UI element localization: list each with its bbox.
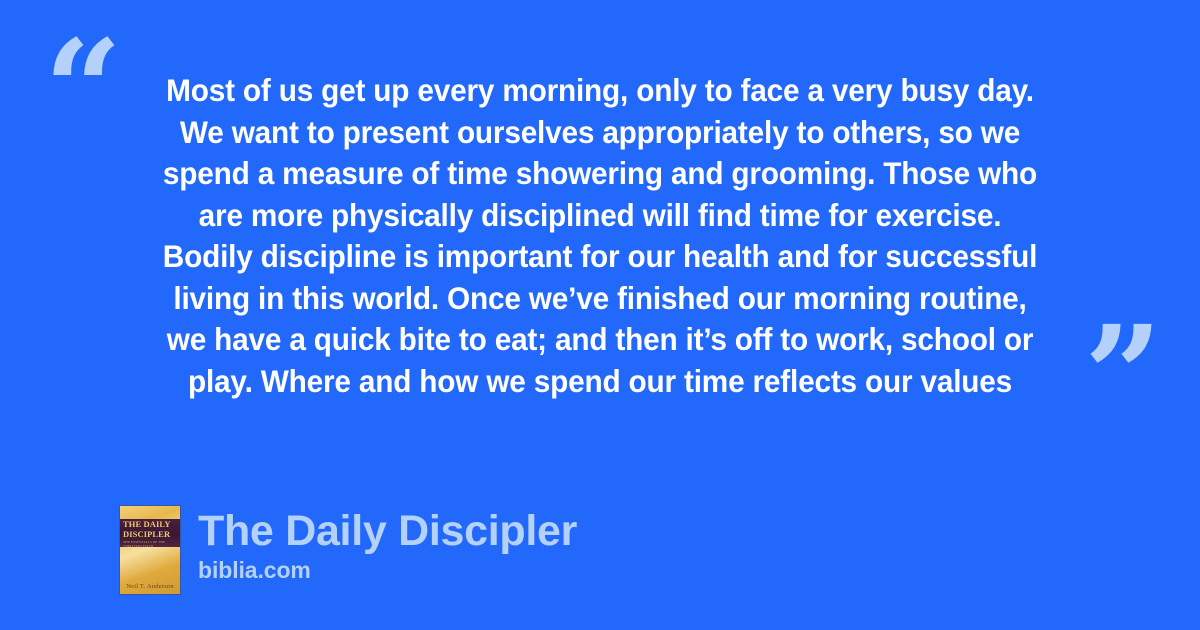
book-cover-thumbnail: THE DAILY DISCIPLER THE ESSENTIALS OF TH… (120, 506, 180, 594)
source-title: The Daily Discipler (198, 508, 577, 555)
quote-line: Most of us get up every morning, only to… (135, 70, 1065, 112)
quote-line: are more physically disciplined will fin… (135, 195, 1065, 237)
book-cover-author: Neil T. Anderson (120, 583, 180, 590)
attribution-text: The Daily Discipler biblia.com (198, 506, 577, 584)
quote-line: we have a quick bite to eat; and then it… (135, 319, 1065, 361)
book-cover-rays (120, 548, 180, 586)
quote-line: living in this world. Once we’ve finishe… (135, 278, 1065, 320)
attribution: THE DAILY DISCIPLER THE ESSENTIALS OF TH… (120, 506, 577, 594)
quote-line: We want to present ourselves appropriate… (135, 112, 1065, 154)
quote-line: Bodily discipline is important for our h… (135, 236, 1065, 278)
quote-line: play. Where and how we spend our time re… (135, 361, 1065, 403)
book-cover-subtitle: THE ESSENTIALS OF THE CHRISTIAN FAITH (123, 540, 177, 548)
source-site: biblia.com (198, 556, 577, 584)
quote-card: “ Most of us get up every morning, only … (0, 0, 1200, 630)
close-quote-icon: ” (1084, 308, 1160, 444)
open-quote-icon: “ (44, 22, 120, 158)
quote-text: Most of us get up every morning, only to… (135, 70, 1065, 402)
book-cover-title: THE DAILY DISCIPLER (123, 520, 177, 539)
quote-line: spend a measure of time showering and gr… (135, 153, 1065, 195)
